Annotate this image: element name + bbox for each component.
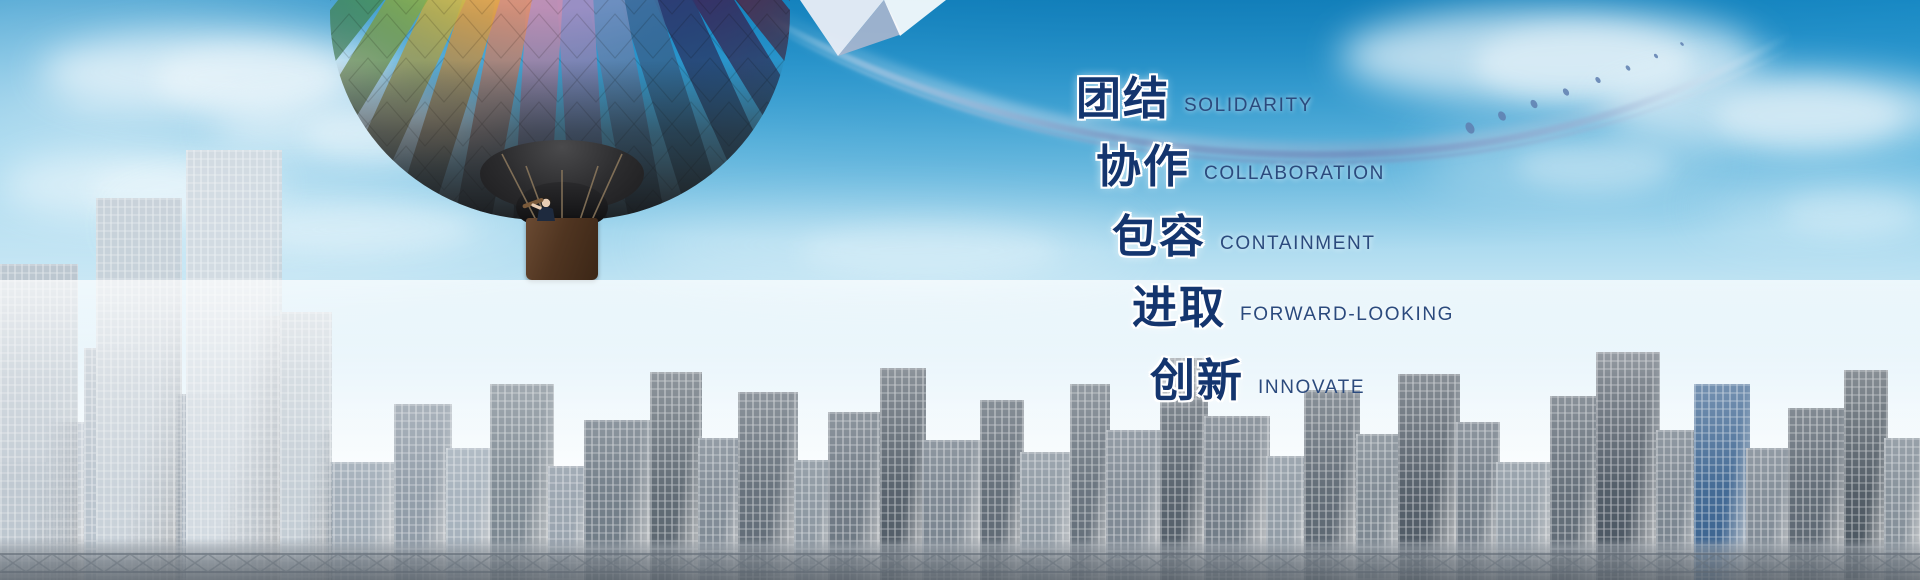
building-windows (186, 150, 282, 580)
tower (96, 198, 182, 580)
city-skyline (0, 150, 1920, 580)
corporate-values-banner: 团结SOLIDARITY协作COLLABORATION包容CONTAINMENT… (0, 0, 1920, 580)
building-windows (0, 264, 78, 580)
tower (186, 150, 282, 580)
bridge-truss-pattern (0, 552, 1920, 574)
building-windows (96, 198, 182, 580)
tower (0, 264, 78, 580)
